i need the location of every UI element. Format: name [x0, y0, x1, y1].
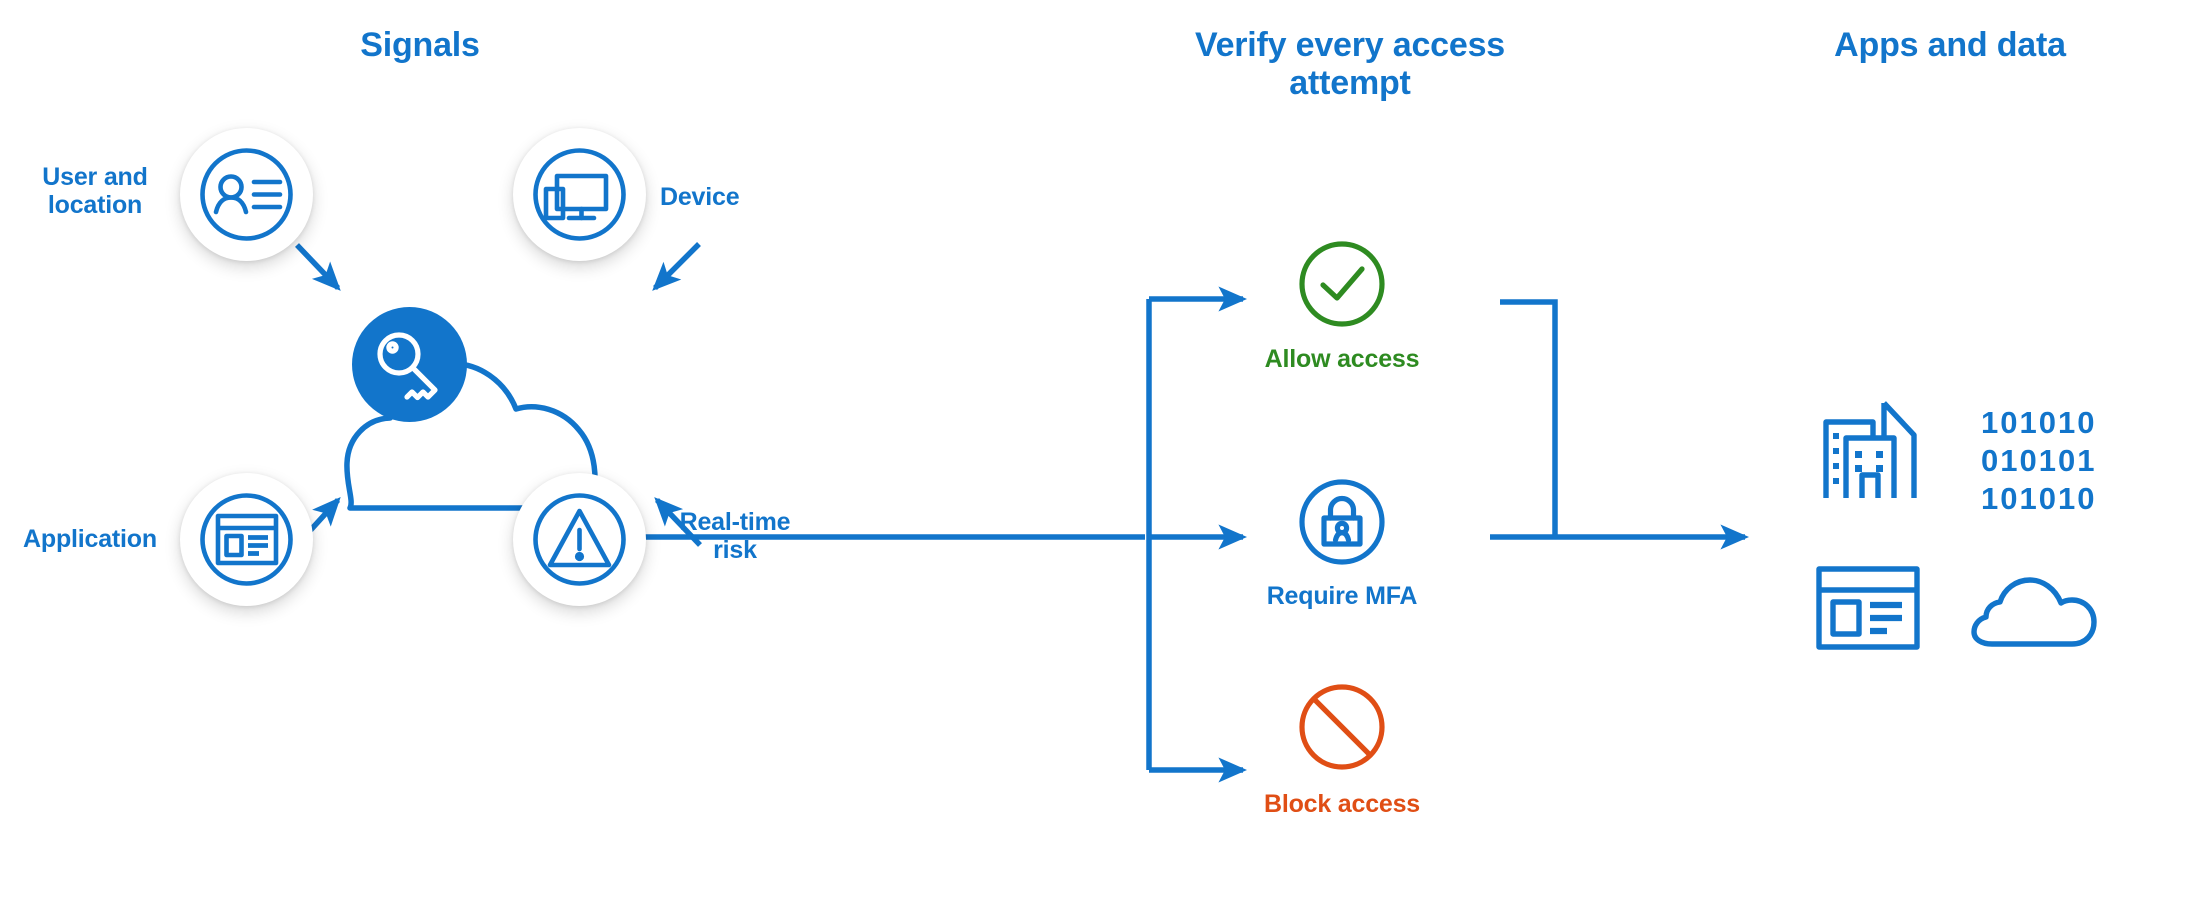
signal-bubble-application[interactable]: [180, 473, 313, 606]
signal-label-user-location: User and location: [20, 163, 170, 219]
binary-line-1: 101010: [1981, 404, 2141, 442]
office-buildings-icon: [1822, 395, 1934, 503]
binary-line-3: 101010: [1981, 480, 2141, 518]
device-monitor-phone-icon: [513, 128, 646, 261]
signal-bubble-device[interactable]: [513, 128, 646, 261]
check-circle-icon: [1298, 240, 1386, 328]
lock-person-icon: [1298, 478, 1386, 566]
decision-label-mfa: Require MFA: [1222, 582, 1462, 610]
application-window-icon-apps: [1815, 564, 1921, 652]
warning-triangle-icon: [513, 473, 646, 606]
key-icon: [352, 307, 467, 422]
application-window-icon: [180, 473, 313, 606]
signal-bubble-real-time-risk[interactable]: [513, 473, 646, 606]
zero-trust-diagram: Signals Verify every access attempt Apps…: [0, 0, 2201, 899]
binary-data-icon: 101010 010101 101010: [1981, 404, 2141, 504]
prohibited-icon: [1298, 683, 1386, 771]
user-card-icon: [180, 128, 313, 261]
cloud-outline-icon-apps: [1970, 572, 2098, 652]
signal-label-application: Application: [10, 525, 170, 553]
signal-label-real-time-risk: Real-time risk: [655, 508, 815, 564]
decision-label-allow: Allow access: [1222, 345, 1462, 373]
binary-line-2: 010101: [1981, 442, 2141, 480]
signal-label-device: Device: [660, 183, 810, 211]
decision-label-block: Block access: [1222, 790, 1462, 818]
signal-bubble-user-location[interactable]: [180, 128, 313, 261]
key-badge: [352, 307, 467, 422]
